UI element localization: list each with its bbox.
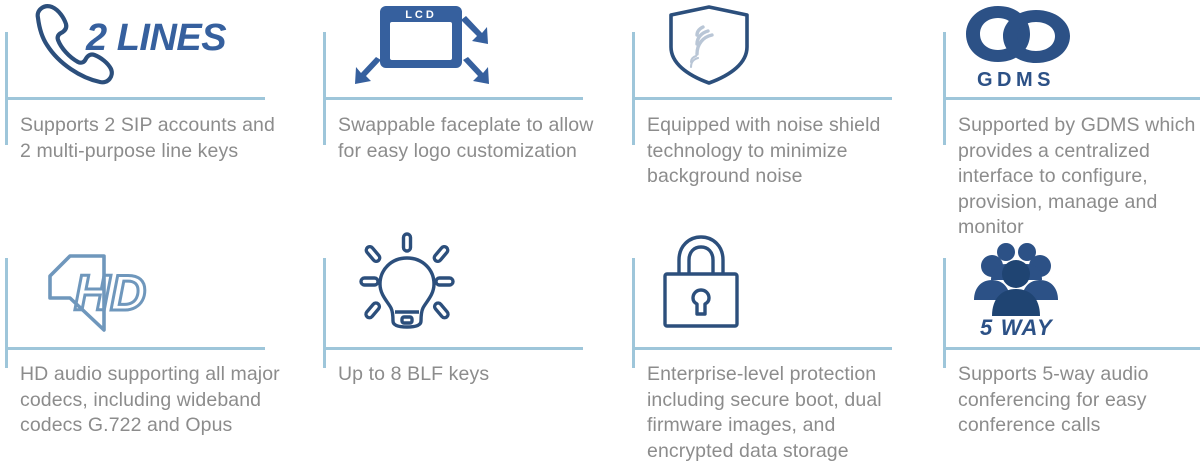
horizontal-divider xyxy=(5,347,265,350)
vertical-divider xyxy=(943,32,946,145)
feature-description: Enterprise-level protection including se… xyxy=(647,362,922,464)
feature-description: HD audio supporting all major codecs, in… xyxy=(20,362,295,439)
feature-row-top: 2 LINES Supports 2 SIP accounts and 2 mu… xyxy=(0,0,1200,240)
feature-cell-faceplate: LCD Swappable faceplate to allow for eas… xyxy=(318,0,627,240)
icon-label: 2 LINES xyxy=(85,17,226,59)
feature-cell-noise-shield: Equipped with noise shield technology to… xyxy=(627,0,938,240)
people-group-5-way-icon: 5 WAY xyxy=(964,232,1079,337)
horizontal-divider xyxy=(632,97,892,100)
feature-cell-hd-audio: HD HD audio supporting all major codecs,… xyxy=(0,240,318,462)
feature-cell-security: Enterprise-level protection including se… xyxy=(627,240,938,462)
icon-label: HD xyxy=(74,265,146,321)
feature-cell-gdms: GDMS Supported by GDMS which provides a … xyxy=(938,0,1200,240)
gdms-cloud-icon: GDMS xyxy=(960,2,1085,92)
vertical-divider xyxy=(943,258,946,368)
horizontal-divider xyxy=(632,347,892,350)
vertical-divider xyxy=(323,32,326,145)
vertical-divider xyxy=(632,258,635,368)
phone-handset-2-lines-icon: 2 LINES xyxy=(26,2,201,87)
horizontal-divider xyxy=(323,347,583,350)
horizontal-divider xyxy=(943,97,1200,100)
vertical-divider xyxy=(5,258,8,368)
padlock-security-icon xyxy=(653,232,758,337)
feature-cell-conference: 5 WAY Supports 5-way audio conferencing … xyxy=(938,240,1200,462)
noise-shield-icon xyxy=(655,2,765,90)
horizontal-divider xyxy=(943,347,1200,350)
icon-label: LCD xyxy=(405,9,437,21)
horizontal-divider xyxy=(5,97,265,100)
feature-cell-2-lines: 2 LINES Supports 2 SIP accounts and 2 mu… xyxy=(0,0,318,240)
lightbulb-blf-icon xyxy=(350,232,465,337)
icon-label: GDMS xyxy=(977,69,1055,91)
vertical-divider xyxy=(5,32,8,145)
feature-description: Supports 2 SIP accounts and 2 multi-purp… xyxy=(20,113,295,164)
feature-description: Supported by GDMS which provides a centr… xyxy=(958,113,1200,241)
feature-cell-blf-keys: Up to 8 BLF keys xyxy=(318,240,627,462)
vertical-divider xyxy=(632,32,635,145)
feature-description: Supports 5-way audio conferencing for ea… xyxy=(958,362,1200,439)
feature-description: Swappable faceplate to allow for easy lo… xyxy=(338,113,613,164)
feature-description: Up to 8 BLF keys xyxy=(338,362,613,388)
vertical-divider xyxy=(323,258,326,368)
horizontal-divider xyxy=(323,97,583,100)
feature-row-bottom: HD HD audio supporting all major codecs,… xyxy=(0,240,1200,462)
icon-label: 5 WAY xyxy=(980,315,1054,340)
lcd-faceplate-swap-icon: LCD xyxy=(350,2,495,90)
feature-description: Equipped with noise shield technology to… xyxy=(647,113,922,190)
hd-audio-speaker-icon: HD xyxy=(22,232,162,337)
feature-grid: 2 LINES Supports 2 SIP accounts and 2 mu… xyxy=(0,0,1200,462)
